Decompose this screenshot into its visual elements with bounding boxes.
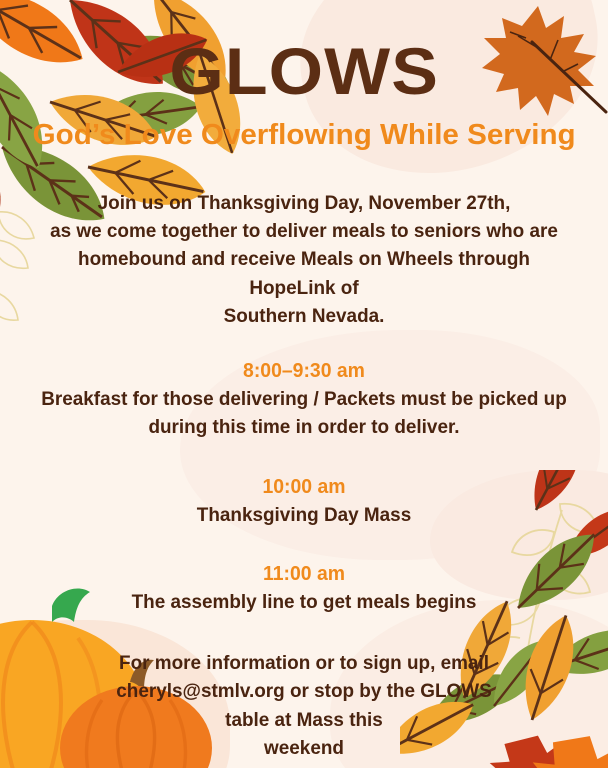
intro-line: Join us on Thanksgiving Day, November 27… [32, 189, 575, 217]
flyer-canvas: GLOWS God’s Love Overflowing While Servi… [0, 0, 608, 768]
contact-info: For more information or to sign up, emai… [91, 649, 518, 762]
page-title: GLOWS [169, 38, 439, 104]
contact-line: table at Mass this [91, 706, 518, 734]
schedule-description-line: Thanksgiving Day Mass [32, 502, 575, 530]
intro-paragraph: Join us on Thanksgiving Day, November 27… [32, 189, 575, 330]
schedule-description: The assembly line to get meals begins [32, 589, 575, 617]
schedule-description-line: Breakfast for those delivering / Packets… [32, 386, 575, 414]
contact-line-email[interactable]: cheryls@stmlv.org or stop by the GLOWS [91, 677, 518, 705]
schedule-time: 8:00–9:30 am [32, 356, 575, 386]
schedule-item-assembly-line: 11:00 am The assembly line to get meals … [24, 559, 584, 617]
schedule-time: 11:00 am [32, 559, 575, 589]
schedule-time: 10:00 am [32, 472, 575, 502]
intro-line: as we come together to deliver meals to … [32, 217, 575, 245]
intro-line: homebound and receive Meals on Wheels th… [32, 245, 575, 302]
contact-line: For more information or to sign up, emai… [91, 649, 518, 677]
contact-line: weekend [91, 734, 518, 762]
schedule-description-line: during this time in order to deliver. [32, 414, 575, 442]
schedule-description: Thanksgiving Day Mass [32, 502, 575, 530]
intro-line: Southern Nevada. [32, 302, 575, 330]
schedule-description: Breakfast for those delivering / Packets… [32, 386, 575, 441]
schedule-item-breakfast: 8:00–9:30 am Breakfast for those deliver… [24, 356, 584, 441]
schedule-description-line: The assembly line to get meals begins [32, 589, 575, 617]
subtitle-tagline: God’s Love Overflowing While Serving [33, 120, 576, 152]
flyer-content: GLOWS God’s Love Overflowing While Servi… [0, 0, 608, 768]
schedule-item-mass: 10:00 am Thanksgiving Day Mass [24, 472, 584, 530]
